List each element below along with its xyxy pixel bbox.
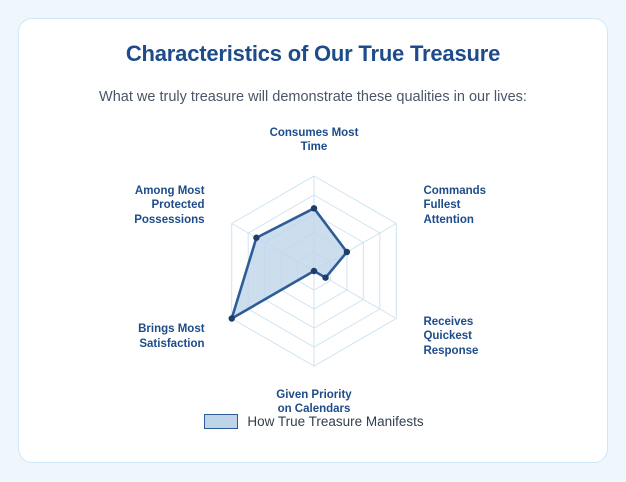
radar-chart: Consumes Most Time Commands Fullest Atte… [19,19,609,464]
axis-label-brings-most-satisfaction: Brings Most Satisfaction [105,322,205,351]
chart-legend: How True Treasure Manifests [19,414,609,429]
legend-label: How True Treasure Manifests [247,414,423,429]
radar-series-area [232,208,347,318]
legend-swatch-icon [204,414,238,429]
axis-label-given-priority-on-calendars: Given Priority on Calendars [234,388,394,417]
axis-label-consumes-most-time: Consumes Most Time [234,126,394,155]
axis-label-among-most-protected-possessions: Among Most Protected Possessions [105,184,205,228]
axis-label-commands-fullest-attention: Commands Fullest Attention [423,184,523,228]
chart-card: Characteristics of Our True Treasure Wha… [18,18,608,463]
axis-label-receives-quickest-response: Receives Quickest Response [423,315,523,359]
